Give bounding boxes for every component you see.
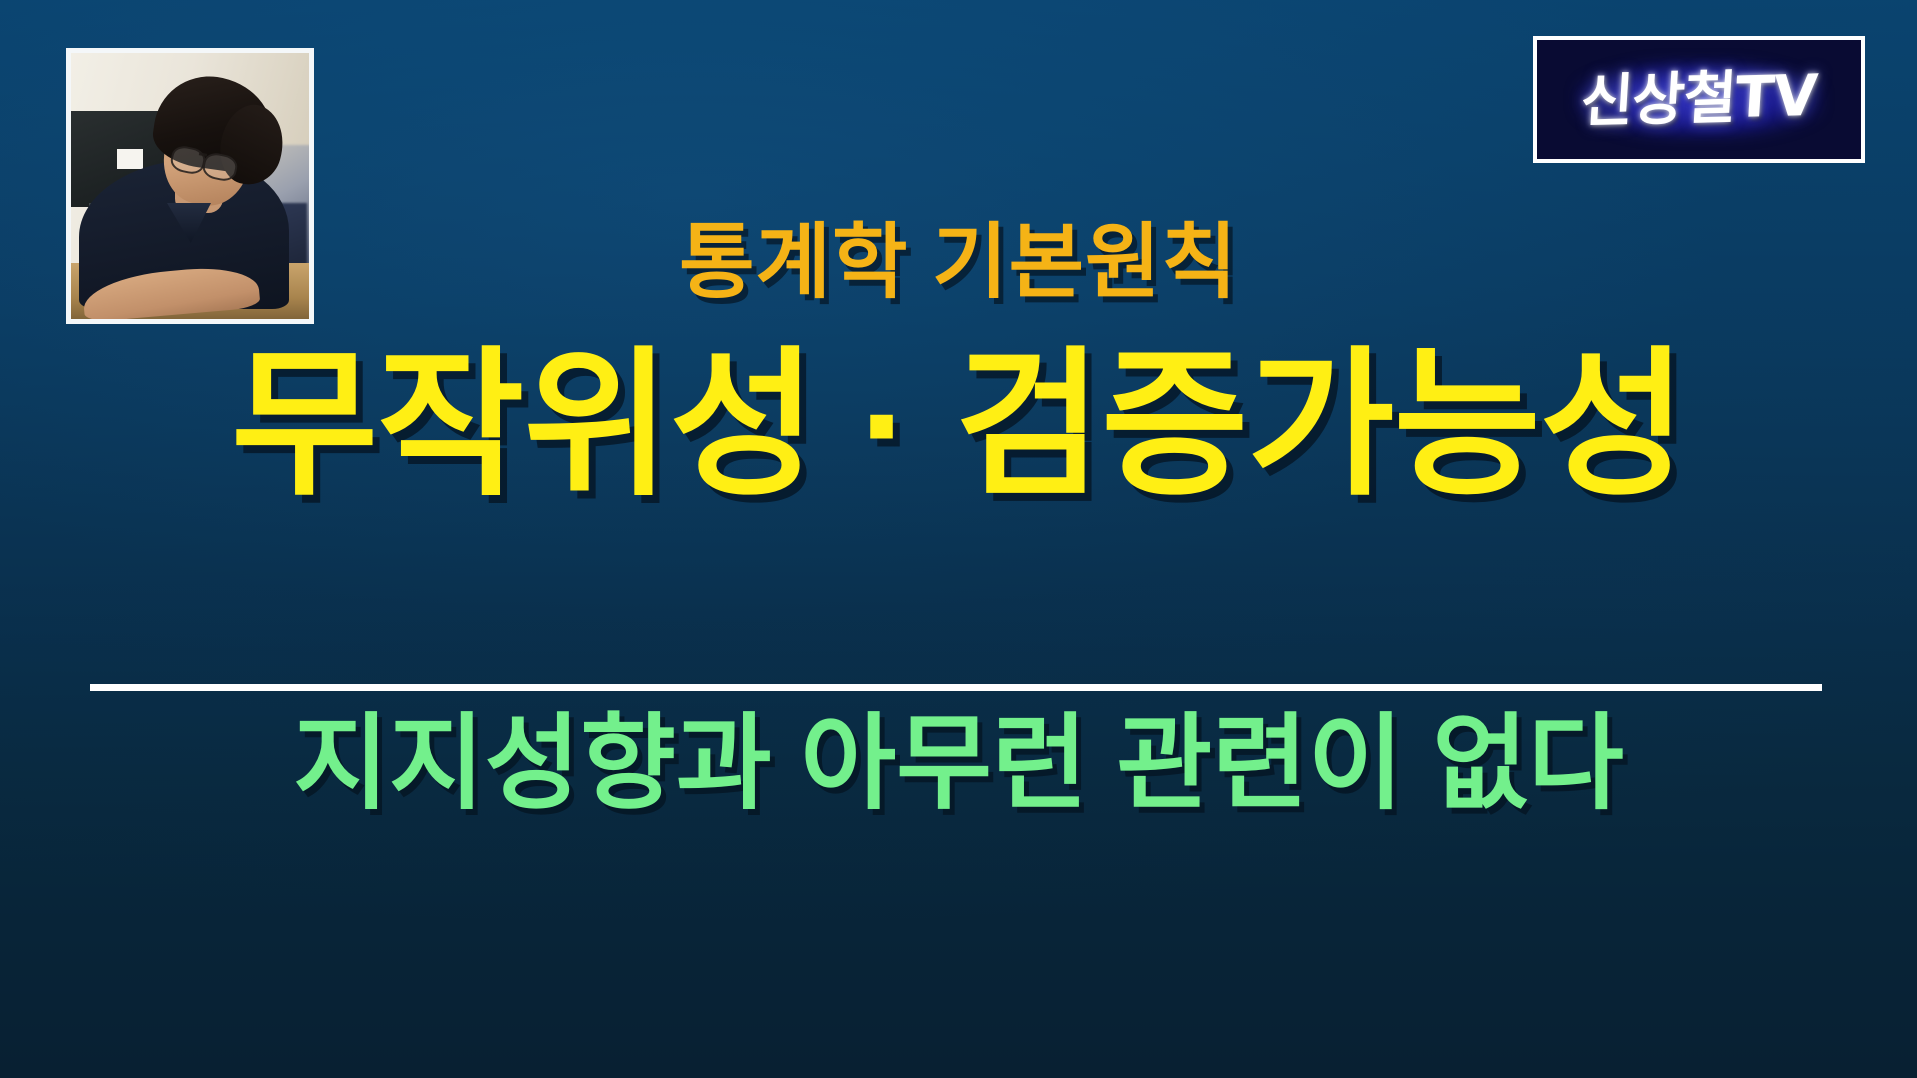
channel-logo-text: 신상철TV	[1579, 68, 1818, 131]
page-title: 무작위성 · 검증가능성	[0, 345, 1917, 505]
host-photo	[66, 48, 314, 324]
photo-scene	[71, 53, 309, 319]
channel-logo: 신상철TV	[1533, 36, 1865, 163]
thumbnail-canvas: 신상철TV 통계학 기본원칙 무작위성 · 검증가능성 지지성향과 아무런 관련…	[0, 0, 1917, 1078]
subtitle-text: 지지성향과 아무런 관련이 없다	[0, 712, 1917, 816]
photo-paper	[117, 149, 143, 169]
divider	[90, 684, 1822, 691]
